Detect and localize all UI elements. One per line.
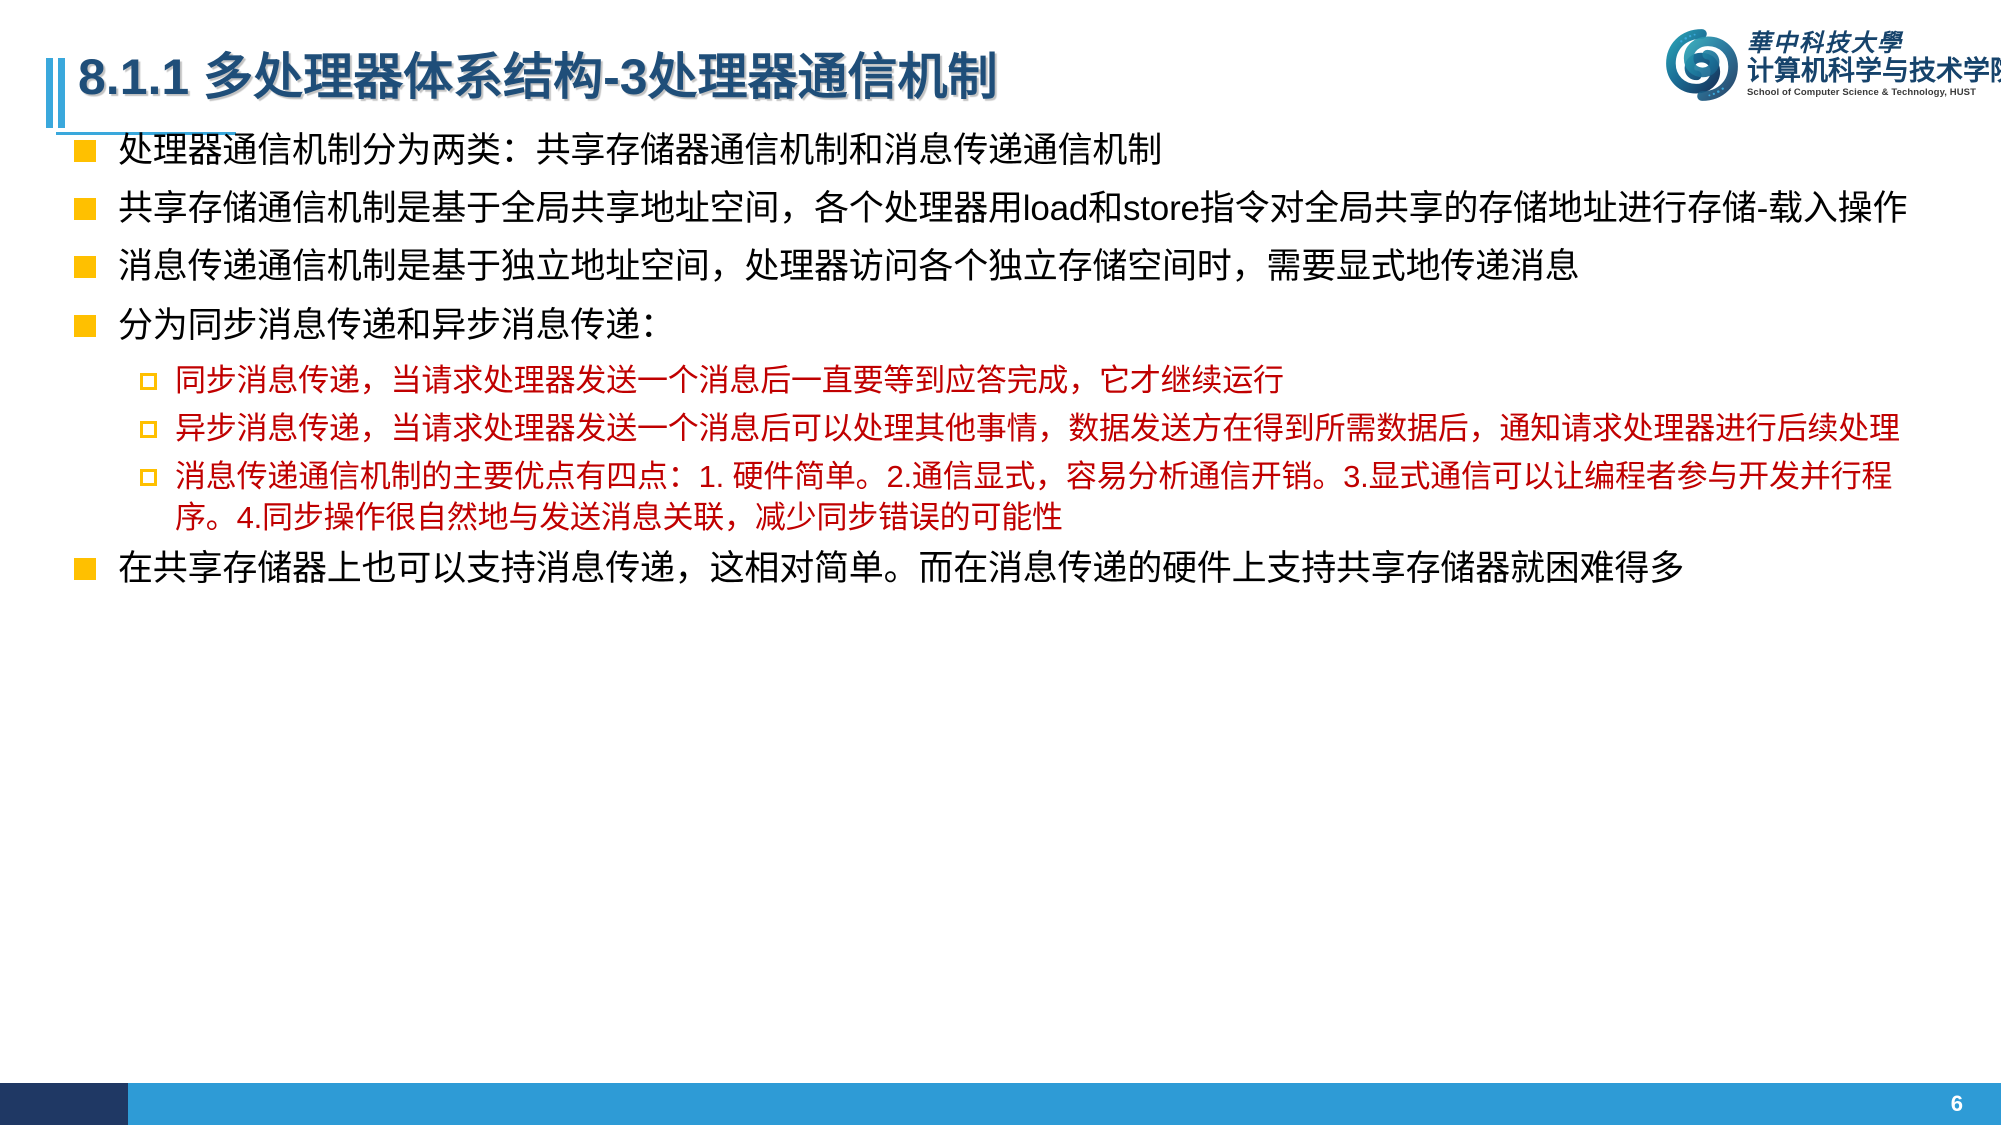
bullet-text: 处理器通信机制分为两类：共享存储器通信机制和消息传递通信机制: [118, 128, 1162, 174]
square-bullet-icon: [74, 315, 96, 337]
bullet-text: 在共享存储器上也可以支持消息传递，这相对简单。而在消息传递的硬件上支持共享存储器…: [118, 546, 1684, 592]
footer-dark-block: [0, 1083, 128, 1125]
list-item: 分为同步消息传递和异步消息传递：: [74, 303, 1934, 349]
square-bullet-icon: [74, 198, 96, 220]
bullet-text: 消息传递通信机制是基于独立地址空间，处理器访问各个独立存储空间时，需要显式地传递…: [118, 244, 1580, 290]
square-bullet-icon: [74, 140, 96, 162]
page-number: 6: [1951, 1083, 1963, 1125]
university-logo: 華中科技大學 计算机科学与技术学院 School of Computer Sci…: [1665, 26, 1975, 104]
hollow-square-bullet-icon: [140, 373, 157, 390]
logo-school-name-en: School of Computer Science & Technology,…: [1747, 88, 2001, 98]
sub-bullet-text: 消息传递通信机制的主要优点有四点：1. 硬件简单。2.通信显式，容易分析通信开销…: [175, 457, 1934, 538]
list-item: 共享存储通信机制是基于全局共享地址空间，各个处理器用load和store指令对全…: [74, 186, 1934, 232]
list-item: 消息传递通信机制是基于独立地址空间，处理器访问各个独立存储空间时，需要显式地传递…: [74, 244, 1934, 290]
sub-bullet-text: 异步消息传递，当请求处理器发送一个消息后可以处理其他事情，数据发送方在得到所需数…: [175, 409, 1900, 449]
sub-list-item: 消息传递通信机制的主要优点有四点：1. 硬件简单。2.通信显式，容易分析通信开销…: [140, 457, 1934, 538]
sub-list-item: 异步消息传递，当请求处理器发送一个消息后可以处理其他事情，数据发送方在得到所需数…: [140, 409, 1934, 449]
sub-list-item: 同步消息传递，当请求处理器发送一个消息后一直要等到应答完成，它才继续运行: [140, 361, 1934, 401]
slide-body: 处理器通信机制分为两类：共享存储器通信机制和消息传递通信机制 共享存储通信机制是…: [74, 128, 1934, 604]
page-title: 8.1.1 多处理器体系结构-3处理器通信机制: [78, 52, 998, 102]
logo-school-name: 计算机科学与技术学院: [1747, 58, 2001, 85]
slide-footer: 6: [0, 1083, 2001, 1125]
hust-scts-spiral-logo-icon: [1665, 28, 1739, 102]
sub-bullet-text: 同步消息传递，当请求处理器发送一个消息后一直要等到应答完成，它才继续运行: [175, 361, 1284, 401]
footer-light-block: [128, 1083, 2001, 1125]
square-bullet-icon: [74, 256, 96, 278]
title-accent-bar-2: [58, 58, 65, 128]
title-accent-bar-1: [46, 58, 53, 128]
bullet-text: 分为同步消息传递和异步消息传递：: [118, 303, 675, 349]
square-bullet-icon: [74, 558, 96, 580]
list-item: 在共享存储器上也可以支持消息传递，这相对简单。而在消息传递的硬件上支持共享存储器…: [74, 546, 1934, 592]
hollow-square-bullet-icon: [140, 421, 157, 438]
title-accent-bars: [46, 58, 68, 128]
sub-list: 同步消息传递，当请求处理器发送一个消息后一直要等到应答完成，它才继续运行 异步消…: [140, 361, 1934, 538]
bullet-text: 共享存储通信机制是基于全局共享地址空间，各个处理器用load和store指令对全…: [118, 186, 1907, 232]
hollow-square-bullet-icon: [140, 469, 157, 486]
logo-university-name: 華中科技大學: [1747, 32, 2001, 56]
logo-text-block: 華中科技大學 计算机科学与技术学院 School of Computer Sci…: [1747, 32, 2001, 98]
list-item: 处理器通信机制分为两类：共享存储器通信机制和消息传递通信机制: [74, 128, 1934, 174]
